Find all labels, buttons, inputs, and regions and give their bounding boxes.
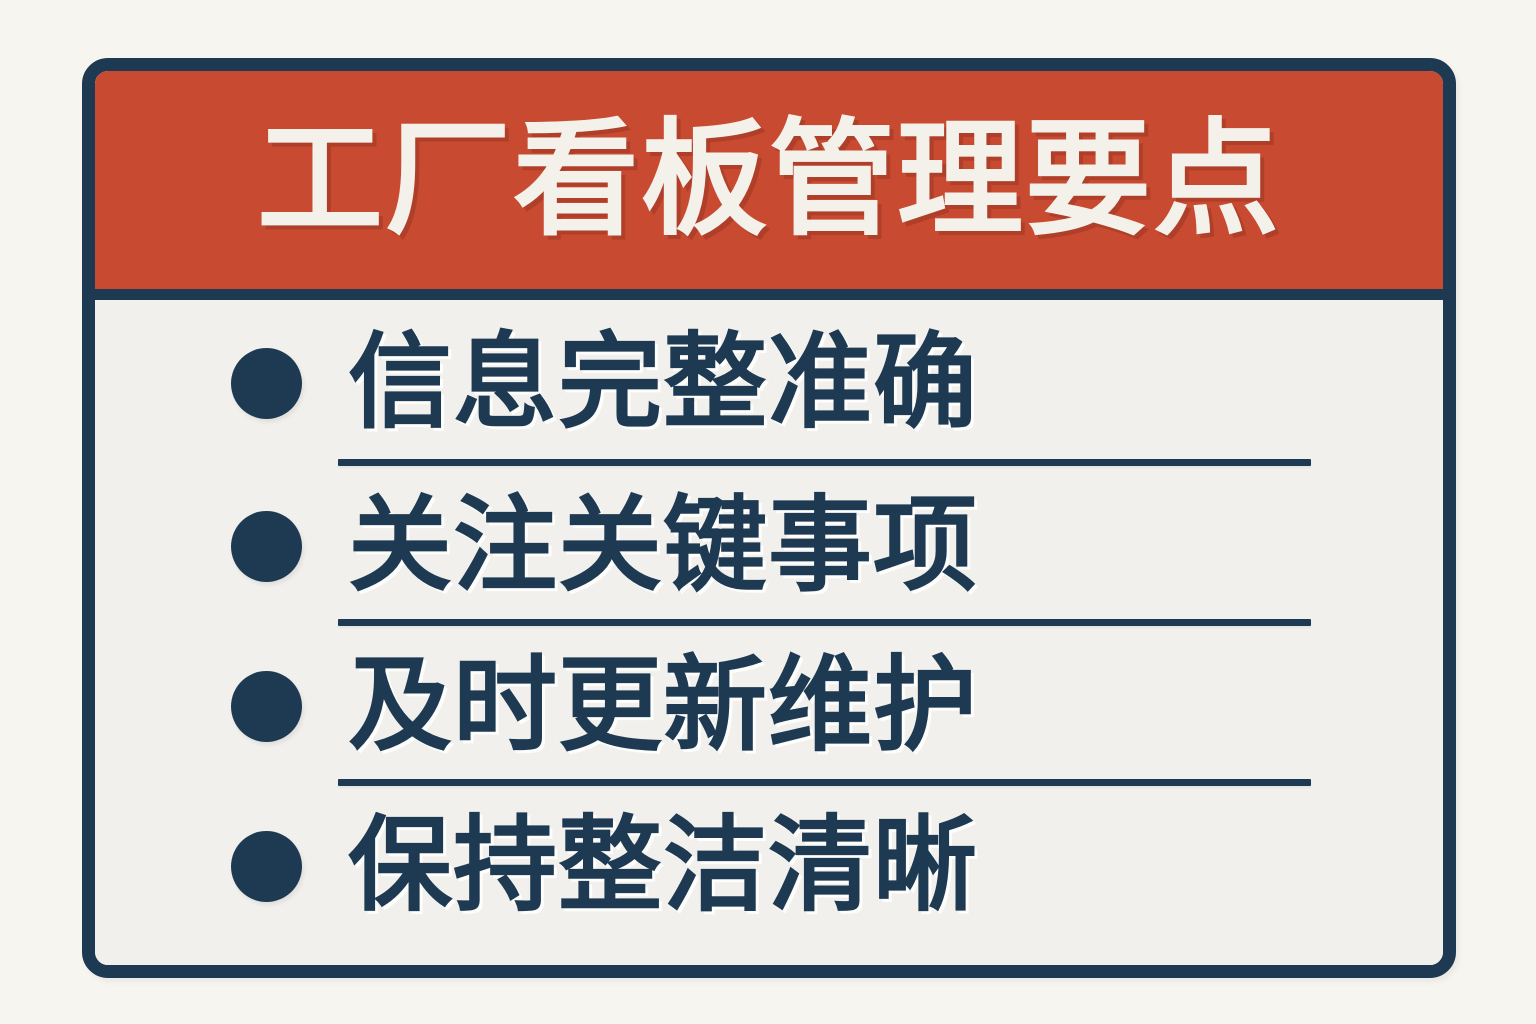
list-item-label: 关注关键事项	[348, 494, 978, 598]
kanban-guidelines-card: 工厂看板管理要点 信息完整准确 关注关键事项 及时更新维护	[82, 58, 1456, 978]
filled-circle-bullet-icon	[231, 511, 302, 582]
filled-circle-bullet-icon	[231, 348, 302, 419]
list-divider	[338, 459, 1311, 466]
list-divider	[338, 779, 1311, 786]
list-item-label: 保持整洁清晰	[348, 814, 978, 918]
card-header-band: 工厂看板管理要点	[95, 71, 1443, 300]
poster-title: 工厂看板管理要点	[257, 117, 1281, 243]
filled-circle-bullet-icon	[231, 671, 302, 742]
list-divider	[338, 619, 1311, 626]
list-item: 信息完整准确	[95, 300, 1443, 466]
filled-circle-bullet-icon	[231, 831, 302, 902]
list-item-label: 及时更新维护	[348, 654, 978, 758]
list-item: 及时更新维护	[95, 626, 1443, 786]
list-item: 保持整洁清晰	[95, 786, 1443, 946]
poster-root: 工厂看板管理要点 信息完整准确 关注关键事项 及时更新维护	[0, 0, 1536, 1024]
list-item: 关注关键事项	[95, 466, 1443, 626]
card-body: 信息完整准确 关注关键事项 及时更新维护 保持整洁清晰	[95, 300, 1443, 969]
key-points-list: 信息完整准确 关注关键事项 及时更新维护 保持整洁清晰	[95, 300, 1443, 946]
list-item-label: 信息完整准确	[348, 331, 978, 435]
